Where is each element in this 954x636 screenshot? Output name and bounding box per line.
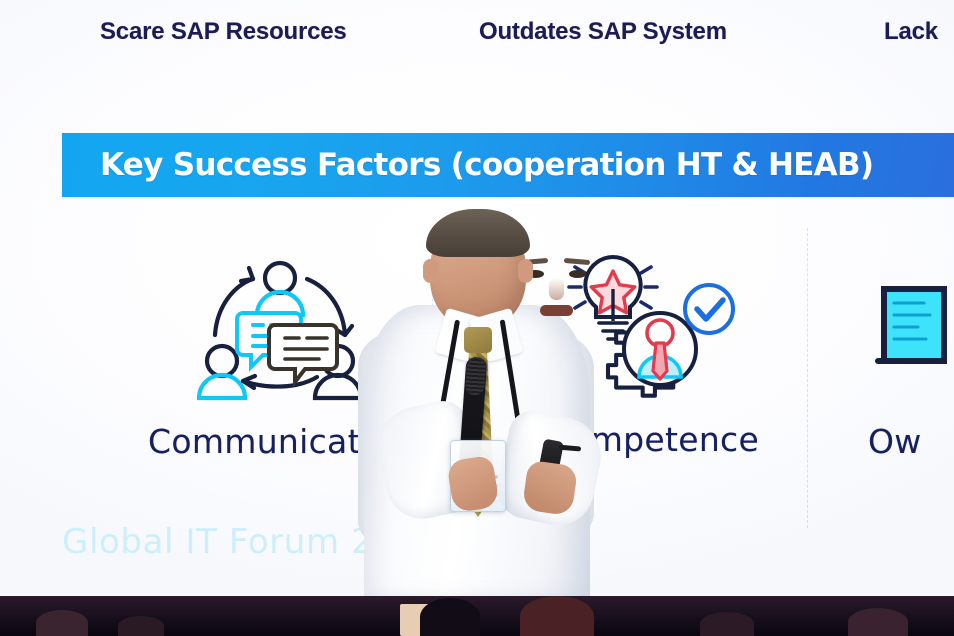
- audience-head: [36, 610, 88, 636]
- presenter-ear-right: [518, 259, 533, 283]
- header-item-lack: Lack: [884, 18, 938, 46]
- factor-ownership-label: Ow: [868, 422, 954, 461]
- people-network-chat-icon: [195, 253, 365, 408]
- presenter-tie-knot: [464, 327, 492, 353]
- audience-head: [420, 598, 480, 636]
- audience-head: [848, 608, 908, 636]
- audience-head: [700, 612, 754, 636]
- previous-slide-header-row: Scare SAP Resources Outdates SAP System …: [0, 0, 954, 68]
- ownership-icon-box: [868, 250, 954, 410]
- slide-title: Key Success Factors (cooperation HT & HE…: [100, 147, 873, 183]
- header-item-scare-sap-resources: Scare SAP Resources: [100, 18, 347, 46]
- communication-icon-box: [190, 250, 370, 410]
- screenshot-root: Scare SAP Resources Outdates SAP System …: [0, 0, 954, 636]
- partial-clipboard-icon: [868, 275, 954, 385]
- factor-ownership-partial: Ow: [868, 250, 954, 461]
- audience-head: [520, 596, 594, 636]
- audience-silhouette: [0, 596, 954, 636]
- audience-head: [118, 616, 164, 636]
- presenter-hair: [426, 209, 530, 257]
- column-divider-right: [807, 228, 808, 528]
- presenter-ear-left: [423, 259, 438, 283]
- header-item-outdates-sap-system: Outdates SAP System: [479, 18, 727, 46]
- presenter-figure: [352, 215, 602, 600]
- slide-title-banner: Key Success Factors (cooperation HT & HE…: [62, 133, 954, 197]
